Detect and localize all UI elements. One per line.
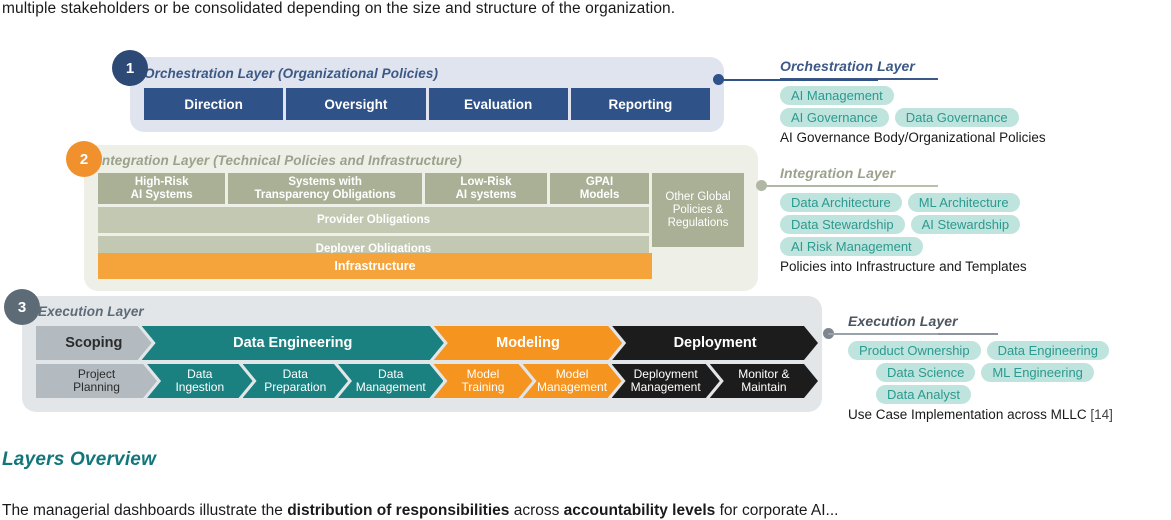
legend-tag-data-architecture[interactable]: Data Architecture <box>780 193 902 212</box>
step-line: Model <box>556 367 589 381</box>
execution-step-data-preparation[interactable]: DataPreparation <box>243 364 348 398</box>
intro-paragraph: multiple stakeholders or be consolidated… <box>2 0 1152 20</box>
diagram-page: multiple stakeholders or be consolidated… <box>0 0 1171 520</box>
paragraph-part: The managerial dashboards illustrate the <box>2 502 287 519</box>
execution-phase-row: Scoping Data Engineering Modeling Deploy… <box>36 326 808 360</box>
execution-step-project-planning[interactable]: ProjectPlanning <box>36 364 157 398</box>
legend-tag-row: Data Analyst <box>848 385 1113 404</box>
legend-execution: Execution Layer Product Ownership Data E… <box>848 313 1113 422</box>
execution-step-monitor-maintain[interactable]: Monitor &Maintain <box>710 364 818 398</box>
step-line: Ingestion <box>175 380 224 394</box>
orchestration-cells: Direction Oversight Evaluation Reporting <box>144 88 710 120</box>
orchestration-cell-direction[interactable]: Direction <box>144 88 283 120</box>
legend-tag-data-science[interactable]: Data Science <box>876 363 975 382</box>
legend-tag-row: Data Architecture ML Architecture <box>780 193 1027 212</box>
legend-integration: Integration Layer Data Architecture ML A… <box>780 165 1027 274</box>
legend-footer-execution: Use Case Implementation across MLLC [14] <box>848 407 1113 422</box>
legend-footer-integration: Policies into Infrastructure and Templat… <box>780 259 1027 274</box>
integration-layer-title: Integration Layer (Technical Policies an… <box>98 153 462 168</box>
integration-layer-container: Integration Layer (Technical Policies an… <box>84 145 758 291</box>
execution-step-model-training[interactable]: ModelTraining <box>433 364 532 398</box>
legend-orchestration: Orchestration Layer AI Management AI Gov… <box>780 58 1046 145</box>
execution-layer-container: Execution Layer Scoping Data Engineering… <box>22 296 822 412</box>
step-line: Model <box>467 367 500 381</box>
step-line: Management <box>537 380 607 394</box>
execution-step-data-management[interactable]: DataManagement <box>338 364 443 398</box>
paragraph-emphasis: distribution of responsibilities <box>287 502 509 519</box>
legend-title-orchestration: Orchestration Layer <box>780 58 1046 78</box>
legend-title-execution: Execution Layer <box>848 313 1113 333</box>
step-line: Planning <box>73 380 120 394</box>
step-line: Management <box>356 380 426 394</box>
layer-badge-1: 1 <box>112 50 148 86</box>
legend-tag-data-stewardship[interactable]: Data Stewardship <box>780 215 905 234</box>
execution-step-model-management[interactable]: ModelManagement <box>523 364 622 398</box>
orchestration-cell-evaluation[interactable]: Evaluation <box>429 88 568 120</box>
legend-tag-data-analyst[interactable]: Data Analyst <box>876 385 971 404</box>
execution-phase-deployment[interactable]: Deployment <box>612 326 818 360</box>
execution-step-deployment-management[interactable]: DeploymentManagement <box>612 364 720 398</box>
legend-tag-data-governance[interactable]: Data Governance <box>895 108 1019 127</box>
orchestration-layer-container: Orchestration Layer (Organizational Poli… <box>130 57 724 132</box>
box-line: Other Global <box>665 191 730 203</box>
integration-box-transparency[interactable]: Systems withTransparency Obligations <box>228 173 422 204</box>
box-line: AI Systems <box>131 189 193 201</box>
box-line: High-Risk <box>135 176 189 188</box>
legend-tag-ai-management[interactable]: AI Management <box>780 86 894 105</box>
integration-risk-boxes: High-RiskAI Systems Systems withTranspar… <box>98 173 649 204</box>
step-line: Data <box>283 367 308 381</box>
legend-tag-ai-risk-management[interactable]: AI Risk Management <box>780 237 923 256</box>
legend-tag-product-ownership[interactable]: Product Ownership <box>848 341 981 360</box>
execution-phase-modeling[interactable]: Modeling <box>434 326 622 360</box>
box-line: AI systems <box>456 189 517 201</box>
execution-chevron-rows: Scoping Data Engineering Modeling Deploy… <box>36 326 808 400</box>
integration-box-low-risk[interactable]: Low-RiskAI systems <box>425 173 547 204</box>
step-line: Project <box>78 367 115 381</box>
box-line: GPAI <box>586 176 613 188</box>
box-line: Transparency Obligations <box>255 189 396 201</box>
legend-tag-row: AI Governance Data Governance <box>780 108 1046 127</box>
integration-box-other-global-policies[interactable]: Other Global Policies & Regulations <box>652 173 744 247</box>
paragraph-emphasis: accountability levels <box>564 502 716 519</box>
legend-tag-ml-engineering[interactable]: ML Engineering <box>981 363 1094 382</box>
legend-footer-orchestration: AI Governance Body/Organizational Polici… <box>780 130 1046 145</box>
legend-tag-data-engineering[interactable]: Data Engineering <box>987 341 1109 360</box>
step-line: Monitor & <box>738 367 789 381</box>
step-line: Preparation <box>264 380 326 394</box>
legend-tag-row: AI Risk Management <box>780 237 1027 256</box>
step-line: Data <box>378 367 403 381</box>
step-line: Training <box>462 380 505 394</box>
orchestration-cell-oversight[interactable]: Oversight <box>286 88 425 120</box>
integration-box-gpai[interactable]: GPAIModels <box>550 173 649 204</box>
layer-badge-3: 3 <box>4 289 40 325</box>
legend-tag-row: Product Ownership Data Engineering <box>848 341 1113 360</box>
box-line: Systems with <box>288 176 362 188</box>
paragraph-part: across <box>509 502 563 519</box>
execution-step-row: ProjectPlanning DataIngestion DataPrepar… <box>36 364 808 398</box>
legend-footer-text: Use Case Implementation across MLLC <box>848 407 1090 422</box>
body-paragraph: The managerial dashboards illustrate the… <box>2 500 1162 520</box>
paragraph-part: for corporate AI... <box>715 502 838 519</box>
step-line: Maintain <box>741 380 786 394</box>
box-line: Low-Risk <box>460 176 511 188</box>
step-line: Deployment <box>634 367 698 381</box>
box-line: Regulations <box>668 217 729 229</box>
legend-tag-ai-stewardship[interactable]: AI Stewardship <box>911 215 1020 234</box>
execution-phase-scoping[interactable]: Scoping <box>36 326 152 360</box>
step-line: Management <box>631 380 701 394</box>
orchestration-cell-reporting[interactable]: Reporting <box>571 88 710 120</box>
legend-title-integration: Integration Layer <box>780 165 1027 185</box>
integration-box-high-risk[interactable]: High-RiskAI Systems <box>98 173 225 204</box>
legend-tag-row: Data Stewardship AI Stewardship <box>780 215 1027 234</box>
legend-tag-ai-governance[interactable]: AI Governance <box>780 108 889 127</box>
integration-box-provider-obligations[interactable]: Provider Obligations <box>98 207 649 233</box>
integration-box-infrastructure[interactable]: Infrastructure <box>98 253 652 279</box>
orchestration-layer-title: Orchestration Layer (Organizational Poli… <box>144 66 438 81</box>
layer-badge-2: 2 <box>66 141 102 177</box>
legend-tag-row: Data Science ML Engineering <box>848 363 1113 382</box>
legend-tag-row: AI Management <box>780 86 1046 105</box>
page-section-heading: Layers Overview <box>2 449 156 471</box>
execution-layer-title: Execution Layer <box>38 304 144 319</box>
box-line: Models <box>580 189 620 201</box>
legend-tag-ml-architecture[interactable]: ML Architecture <box>908 193 1020 212</box>
step-line: Data <box>187 367 212 381</box>
execution-step-data-ingestion[interactable]: DataIngestion <box>147 364 252 398</box>
legend-footer-reference: [14] <box>1090 407 1113 422</box>
execution-phase-data-engineering[interactable]: Data Engineering <box>142 326 444 360</box>
box-line: Policies & <box>673 204 724 216</box>
